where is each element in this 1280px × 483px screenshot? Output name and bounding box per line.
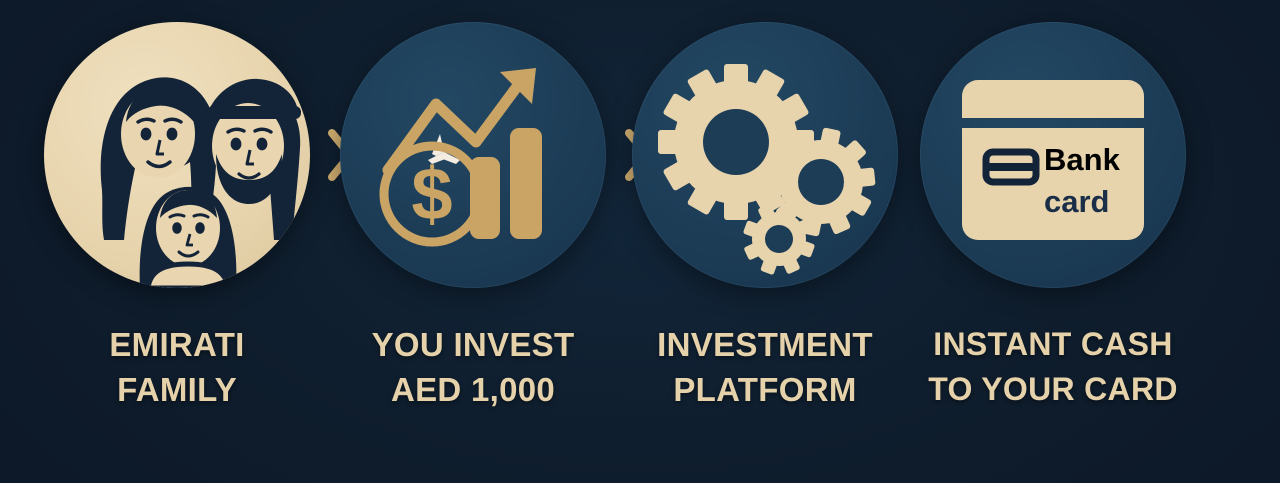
card-text-line1: Bank xyxy=(1044,142,1121,177)
step-4-label: INSTANT CASH TO YOUR CARD xyxy=(908,322,1198,412)
step-investment-platform: INVESTMENT PLATFORM xyxy=(620,0,910,483)
step-1-label: EMIRATI FAMILY xyxy=(32,322,322,412)
step-3-circle xyxy=(632,22,898,288)
growth-chart-dollar-icon: $ xyxy=(340,22,606,288)
dollar-symbol: $ xyxy=(411,153,452,236)
step-3-label: INVESTMENT PLATFORM xyxy=(620,322,910,412)
step-2-circle: $ xyxy=(340,22,606,288)
investment-process-infographic: EMIRATI FAMILY xyxy=(0,0,1280,483)
step-you-invest: $ YOU INVEST AED 1,000 xyxy=(328,0,618,483)
step-1-circle xyxy=(44,22,310,288)
card-text-line2: card xyxy=(1044,184,1109,219)
emirati-family-icon xyxy=(44,22,310,288)
step-emirati-family: EMIRATI FAMILY xyxy=(32,0,322,483)
step-2-label: YOU INVEST AED 1,000 xyxy=(328,322,618,412)
gears-icon xyxy=(632,22,898,288)
bank-card-icon: Bank card xyxy=(920,22,1186,288)
step-instant-cash: Bank card INSTANT CASH TO YOUR CARD xyxy=(908,0,1198,483)
step-4-circle: Bank card xyxy=(920,22,1186,288)
